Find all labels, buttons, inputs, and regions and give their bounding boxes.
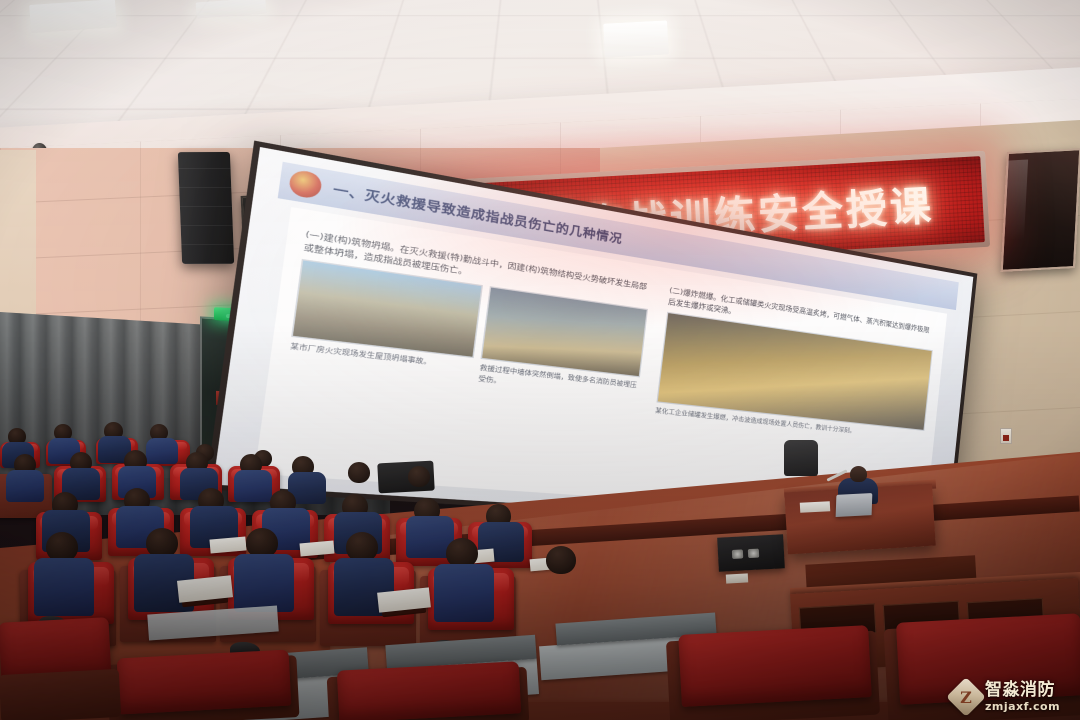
attendee-head xyxy=(348,462,370,483)
watermark-brand: 智淼消防 xyxy=(985,682,1060,699)
attendee-torso xyxy=(146,438,178,464)
watermark-logo-icon: Z xyxy=(946,677,986,717)
foreground-seat[interactable] xyxy=(337,661,521,720)
watermark-url: zmjaxf.com xyxy=(985,701,1060,712)
attendee-torso xyxy=(234,554,294,612)
watermark-logo-glyph: Z xyxy=(952,683,980,711)
paper-stack xyxy=(800,501,830,513)
presenter-head xyxy=(850,466,867,482)
watermark: Z 智淼消防 zmjaxf.com xyxy=(952,676,1076,718)
fire-alarm-led xyxy=(1003,435,1009,441)
foreground-seat-frame xyxy=(0,669,121,720)
attendee-head xyxy=(546,546,576,574)
attendee-torso xyxy=(34,558,94,616)
foreground-seat[interactable] xyxy=(678,625,872,707)
attendee-torso xyxy=(434,564,494,622)
fire-service-emblem-icon xyxy=(288,168,323,199)
attendee-torso xyxy=(6,470,44,502)
attendee-torso xyxy=(234,470,272,502)
ceiling-panel-light xyxy=(603,20,669,57)
foreground-seat[interactable] xyxy=(117,650,292,715)
watermark-text: 智淼消防 zmjaxf.com xyxy=(985,682,1060,712)
attendee-head xyxy=(408,466,430,487)
presenter-chair xyxy=(784,440,818,476)
photo-scene: 灭火救援作战训练安全授课 一、灭火救援导致造成指战员伤亡的几种情况 (一)建(构… xyxy=(0,0,1080,720)
presenter-laptop xyxy=(836,493,873,517)
line-array-speaker xyxy=(178,152,234,264)
display-glare xyxy=(1004,160,1028,241)
